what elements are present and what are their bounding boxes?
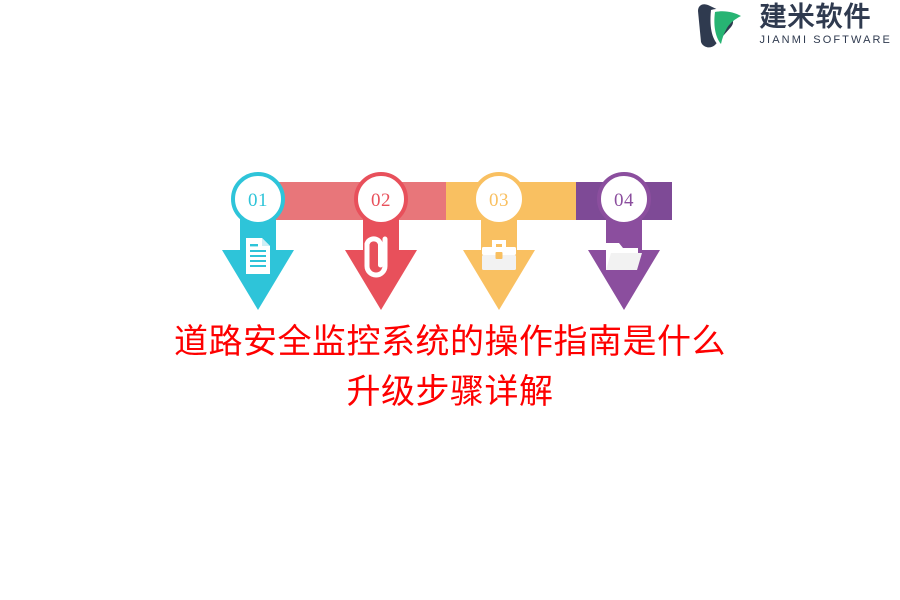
process-step-3[interactable]: 03 xyxy=(463,174,535,310)
step-3-number: 03 xyxy=(489,190,509,211)
page-title-line-2: 升级步骤详解 xyxy=(0,368,900,418)
page-title-line-1: 道路安全监控系统的操作指南是什么 xyxy=(0,318,900,368)
jianmi-swoosh-leaf-logo-icon xyxy=(697,2,751,48)
page-title: 道路安全监控系统的操作指南是什么 升级步骤详解 xyxy=(0,318,900,418)
process-step-1[interactable]: 01 xyxy=(222,174,294,310)
brand-name-cn: 建米软件 xyxy=(759,4,892,31)
brand-name-en: JIANMI SOFTWARE xyxy=(759,35,892,46)
process-infographic: 01 02 xyxy=(200,160,680,310)
process-step-4[interactable]: 04 xyxy=(588,174,660,310)
document-icon xyxy=(246,238,270,274)
process-step-2[interactable]: 02 xyxy=(345,174,417,310)
page-canvas: 建米软件 JIANMI SOFTWARE xyxy=(0,0,900,600)
step-4-number: 04 xyxy=(614,190,634,211)
brand-text: 建米软件 JIANMI SOFTWARE xyxy=(759,4,892,46)
step-2-number: 02 xyxy=(371,190,391,211)
brand-logo[interactable]: 建米软件 JIANMI SOFTWARE xyxy=(697,0,892,50)
step-1-number: 01 xyxy=(248,190,268,211)
